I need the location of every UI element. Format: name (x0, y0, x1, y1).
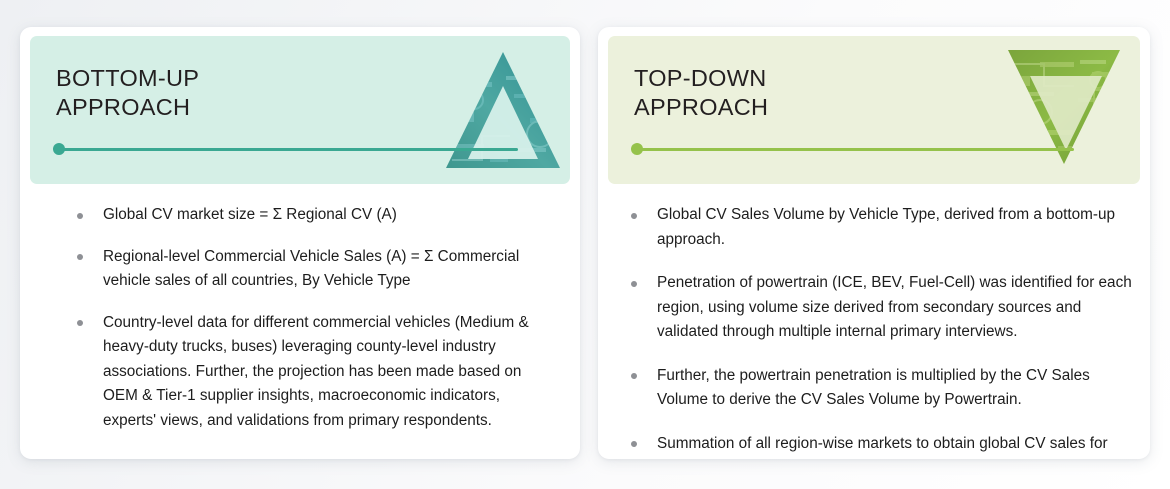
list-item: Country-level data for different commerc… (72, 311, 556, 434)
list-item-text: Regional-level Commercial Vehicle Sales … (103, 248, 519, 290)
bullet-list-top-down: Global CV Sales Volume by Vehicle Type, … (598, 203, 1150, 459)
list-item-text: Summation of all region-wise markets to … (657, 435, 1108, 460)
bullet-dot-icon (77, 213, 83, 219)
list-item: Summation of all region-wise markets to … (626, 432, 1132, 460)
bullet-dot-icon (631, 213, 637, 219)
bullet-dot-icon (631, 373, 637, 379)
list-item-text: Country-level data for different commerc… (103, 314, 529, 429)
bullet-dot-icon (631, 441, 637, 447)
accent-rule (634, 148, 1074, 151)
diagram-board: BOTTOM-UP APPROACH Global CV market size… (0, 0, 1170, 489)
accent-rule (56, 148, 518, 151)
card-title-top-down: TOP-DOWN APPROACH (634, 64, 768, 122)
list-item: Global CV Sales Volume by Vehicle Type, … (626, 203, 1132, 252)
list-item-text: Penetration of powertrain (ICE, BEV, Fue… (657, 274, 1132, 340)
bullet-list-bottom-up: Global CV market size = Σ Regional CV (A… (20, 203, 580, 433)
bullet-dot-icon (77, 320, 83, 326)
list-item: Further, the powertrain penetration is m… (626, 364, 1132, 413)
card-title-bottom-up: BOTTOM-UP APPROACH (56, 64, 199, 122)
list-item-text: Global CV market size = Σ Regional CV (A… (103, 206, 397, 223)
card-header-bottom-up: BOTTOM-UP APPROACH (30, 36, 570, 184)
card-header-top-down: TOP-DOWN APPROACH (608, 36, 1140, 184)
triangle-up-icon (444, 48, 562, 170)
bullet-dot-icon (77, 254, 83, 260)
list-item-text: Further, the powertrain penetration is m… (657, 367, 1090, 409)
list-item: Penetration of powertrain (ICE, BEV, Fue… (626, 271, 1132, 345)
bullet-dot-icon (631, 281, 637, 287)
list-item: Global CV market size = Σ Regional CV (A… (72, 203, 556, 228)
card-bottom-up: BOTTOM-UP APPROACH Global CV market size… (20, 27, 580, 459)
list-item-text: Global CV Sales Volume by Vehicle Type, … (657, 206, 1115, 248)
list-item: Regional-level Commercial Vehicle Sales … (72, 245, 556, 294)
card-top-down: TOP-DOWN APPROACH Global CV Sales Volume… (598, 27, 1150, 459)
